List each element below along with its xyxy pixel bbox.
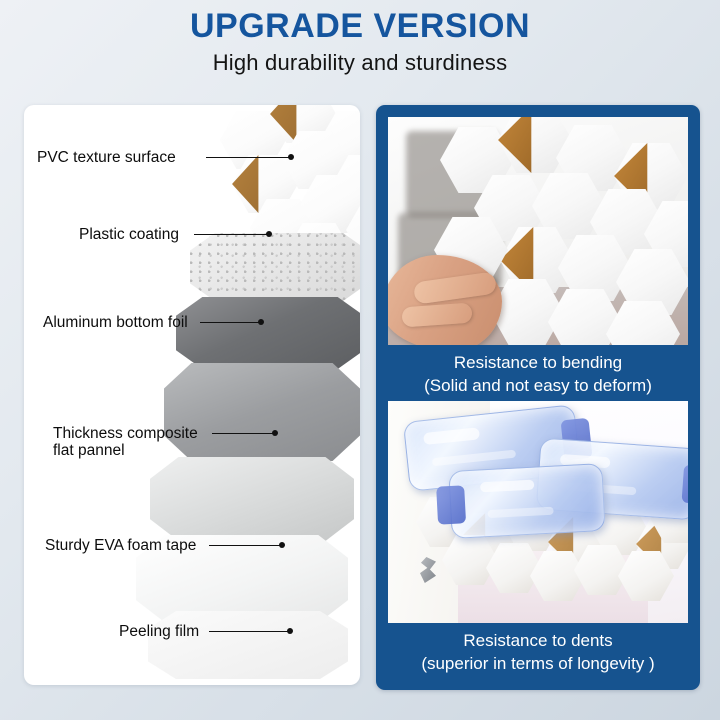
caption-line-1: Resistance to bending bbox=[376, 351, 700, 374]
leader-dot bbox=[279, 542, 285, 548]
infographic-root: UPGRADE VERSION High durability and stur… bbox=[0, 0, 720, 720]
caption-line-2: (Solid and not easy to deform) bbox=[376, 374, 700, 397]
layer-slab-plastic-coating bbox=[190, 233, 360, 301]
feature-image-dents bbox=[388, 401, 688, 623]
label-plastic-coating: Plastic coating bbox=[79, 226, 179, 243]
leader-dot bbox=[288, 154, 294, 160]
feature-caption-bending: Resistance to bending (Solid and not eas… bbox=[376, 351, 700, 397]
header: UPGRADE VERSION High durability and stur… bbox=[0, 6, 720, 78]
page-subtitle: High durability and sturdiness bbox=[0, 48, 720, 78]
caption-line-1: Resistance to dents bbox=[376, 629, 700, 652]
caption-line-2: (superior in terms of longevity ) bbox=[376, 652, 700, 675]
features-panel: Resistance to bending (Solid and not eas… bbox=[376, 105, 700, 690]
leader-line bbox=[209, 545, 281, 546]
leader-line bbox=[209, 631, 289, 632]
leader-dot bbox=[272, 430, 278, 436]
leader-line bbox=[200, 322, 260, 323]
layer-slab-eva-foam-tape bbox=[150, 457, 354, 541]
layer-slab-bottom-edge bbox=[148, 611, 348, 679]
layers-card bbox=[24, 105, 360, 685]
leader-line bbox=[194, 234, 268, 235]
feature-image-bending bbox=[388, 117, 688, 345]
label-thickness-composite-panel: Thickness composite flat pannel bbox=[53, 425, 198, 459]
leader-line bbox=[206, 157, 290, 158]
leader-dot bbox=[266, 231, 272, 237]
leader-line bbox=[212, 433, 274, 434]
label-aluminum-bottom-foil: Aluminum bottom foil bbox=[43, 314, 188, 331]
layer-stack-graphic bbox=[24, 105, 360, 685]
leader-dot bbox=[287, 628, 293, 634]
leader-dot bbox=[258, 319, 264, 325]
label-pvc-texture-surface: PVC texture surface bbox=[37, 149, 176, 166]
feature-caption-dents: Resistance to dents (superior in terms o… bbox=[376, 629, 700, 675]
label-sturdy-eva-foam-tape: Sturdy EVA foam tape bbox=[45, 537, 196, 554]
label-peeling-film: Peeling film bbox=[119, 623, 199, 640]
glass-bottle bbox=[448, 463, 605, 539]
page-title: UPGRADE VERSION bbox=[0, 6, 720, 46]
layer-slab-aluminum-foil bbox=[176, 297, 360, 369]
